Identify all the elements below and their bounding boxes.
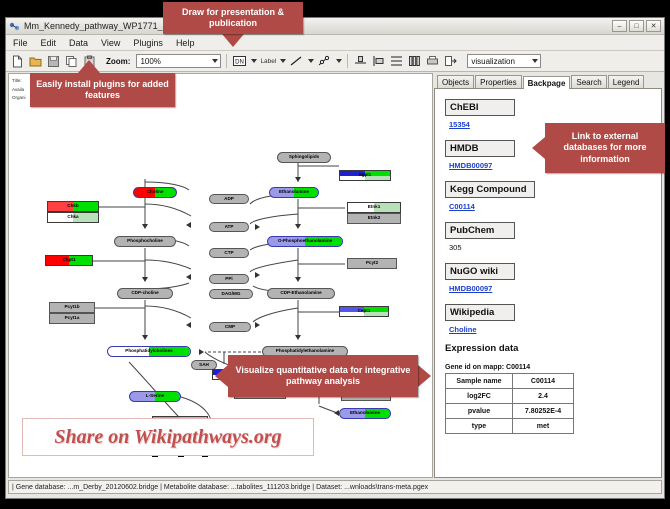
zoom-value: 100% (140, 57, 160, 66)
arrow-icon (255, 224, 260, 230)
zoom-combo[interactable]: 100% (136, 54, 221, 68)
menu-plugins[interactable]: Plugins (131, 37, 165, 49)
svg-text:DN: DN (236, 60, 245, 66)
share-banner-text: Share on Wikipathways.org (54, 426, 281, 449)
close-button[interactable]: ✕ (646, 20, 661, 32)
status-bar: | Gene database: ...m_Derby_20120602.bri… (8, 480, 662, 494)
metabolite-node-atp[interactable]: ATP (209, 222, 249, 232)
node-label: CMP (225, 325, 235, 330)
metabolite-node-dag-mg[interactable]: DAG/MG (209, 289, 253, 299)
metabolite-node-phosphocholine[interactable]: Phosphocholine (114, 236, 176, 247)
menu-data[interactable]: Data (67, 37, 90, 49)
tab-objects[interactable]: Objects (437, 75, 474, 88)
gene-node-chkb[interactable]: Chkb (47, 201, 99, 212)
metabolite-node-cdp-choline[interactable]: CDP-choline (117, 288, 173, 299)
database-link-wikipedia[interactable]: Choline (449, 325, 661, 334)
database-header-chebi: ChEBI (445, 99, 515, 116)
arrow-icon (186, 274, 191, 280)
copy-icon[interactable] (64, 54, 79, 69)
title-bar: Mm_Kennedy_pathway_WP1771_45176.gpml – □… (6, 18, 664, 35)
node-label: Pcyt2 (366, 261, 378, 266)
arrow-icon (199, 349, 204, 355)
side-panel-tabs: Objects Properties Backpage Search Legen… (434, 73, 662, 89)
line-icon[interactable] (289, 54, 304, 69)
metabolite-node-phosphatidylcholines[interactable]: Phosphatidylcholines (107, 346, 191, 357)
node-label: ADP (224, 197, 234, 202)
arrow-icon (142, 277, 148, 282)
gene-node-pcyt1b[interactable]: Pcyt1b (49, 302, 95, 313)
callout-link: Link to external databases for more info… (545, 123, 665, 173)
gene-node-etnk1[interactable]: Etnk1 (347, 202, 401, 213)
callout-arrow-icon (215, 365, 228, 387)
node-label: Pcyt1a (65, 316, 80, 321)
datanode-icon[interactable]: DN (232, 54, 247, 69)
maximize-button[interactable]: □ (629, 20, 644, 32)
node-label: L-Serine (146, 394, 164, 399)
node-label: Etnk2 (368, 216, 381, 221)
gene-node-cept1[interactable]: Cept1 (339, 306, 389, 317)
gene-node-chka[interactable]: Chka (47, 212, 99, 223)
expression-value: 7.80252E-4 (513, 404, 574, 419)
callout-plugins: Easily install plugins for added feature… (30, 73, 175, 107)
menu-help[interactable]: Help (174, 37, 197, 49)
visualization-combo[interactable]: visualization (467, 54, 541, 68)
arrow-icon (142, 335, 148, 340)
align-icon[interactable] (353, 54, 368, 69)
align-left-icon[interactable] (371, 54, 386, 69)
share-banner: Share on Wikipathways.org (22, 418, 314, 456)
metabolite-node-adp[interactable]: ADP (209, 194, 249, 204)
callout-arrow-icon (418, 365, 431, 387)
database-header-wikipedia: Wikipedia (445, 304, 515, 321)
arrow-icon (186, 322, 191, 328)
database-header-hmdb: HMDB (445, 140, 515, 157)
menu-file[interactable]: File (11, 37, 30, 49)
menu-bar: File Edit Data View Plugins Help (6, 35, 664, 51)
gene-node-etnk2[interactable]: Etnk2 (347, 213, 401, 224)
chevron-down-icon[interactable] (336, 59, 342, 63)
metabolite-node-ethanolamine[interactable]: Ethanolamine (339, 408, 391, 419)
node-label: O-Phosphoethanolamine (278, 239, 332, 244)
expression-value: 2.4 (513, 389, 574, 404)
node-label: Ethanolamine (279, 190, 309, 195)
metabolite-node-o-phosphoethanolamine[interactable]: O-Phosphoethanolamine (267, 236, 343, 247)
node-label: Cept1 (358, 309, 371, 314)
chevron-down-icon[interactable] (308, 59, 314, 63)
node-label: CDP-choline (131, 291, 158, 296)
arrow-icon (295, 335, 301, 340)
metabolite-node-cdp-ethanolamine[interactable]: CDP-Ethanolamine (267, 288, 335, 299)
node-label: Chkb (67, 204, 78, 209)
arrow-icon (142, 224, 148, 229)
tab-search[interactable]: Search (571, 75, 606, 88)
chevron-down-icon (212, 59, 218, 63)
database-header-nugo-wiki: NuGO wiki (445, 263, 515, 280)
arrow-icon (255, 272, 260, 278)
node-label: DAG/MG (222, 292, 241, 297)
chevron-down-icon[interactable] (280, 59, 286, 63)
expression-row: pvalue7.80252E-4 (446, 404, 574, 419)
callout-arrow-icon (78, 60, 100, 73)
callout-arrow-icon (222, 34, 244, 47)
arrow-icon (295, 177, 301, 182)
zoom-label: Zoom: (106, 57, 130, 66)
expression-value: met (513, 419, 574, 434)
metabolite-node-ctp[interactable]: CTP (209, 248, 249, 258)
arrow-icon (295, 224, 301, 229)
database-link-nugo-wiki[interactable]: HMDB00097 (449, 284, 661, 293)
stack-icon[interactable] (407, 54, 422, 69)
tab-legend[interactable]: Legend (608, 75, 645, 88)
database-link-kegg-compound[interactable]: C00114 (449, 202, 661, 211)
node-label: PPi (225, 277, 232, 282)
arrow-icon (186, 222, 191, 228)
arrow-icon (255, 322, 260, 328)
metabolite-node-ppi[interactable]: PPi (209, 274, 249, 284)
callout-visualize: Visualize quantitative data for integrat… (228, 355, 418, 397)
gene-node-pcyt2[interactable]: Pcyt2 (347, 258, 397, 269)
metabolite-node-ethanolamine[interactable]: Ethanolamine (269, 187, 319, 198)
metabolite-node-l-serine[interactable]: L-Serine (129, 391, 181, 402)
toolbar: Zoom: 100% DN Label vi (6, 51, 664, 72)
arrow-icon (295, 277, 301, 282)
database-header-pubchem: PubChem (445, 222, 515, 239)
visualization-value: visualization (471, 57, 515, 66)
node-label: CDP-Ethanolamine (280, 291, 321, 296)
metabolite-node-cmp[interactable]: CMP (209, 322, 251, 332)
node-label: Sgpl1 (359, 173, 372, 178)
save-icon[interactable] (46, 54, 61, 69)
anchor-icon[interactable] (317, 54, 332, 69)
node-label: Chka (67, 215, 78, 220)
expression-key: pvalue (446, 404, 513, 419)
expression-heading: Expression data (445, 343, 661, 354)
export-icon[interactable] (443, 54, 458, 69)
tab-backpage[interactable]: Backpage (523, 76, 571, 89)
toolbar-separator (347, 54, 348, 68)
database-value-pubchem: 305 (449, 243, 661, 252)
callout-draw: Draw for presentation & publication (163, 2, 303, 34)
minimize-button[interactable]: – (612, 20, 627, 32)
label-tool-label[interactable]: Label (260, 58, 276, 65)
toolbar-separator (226, 54, 227, 68)
new-file-icon[interactable] (10, 54, 25, 69)
node-label: Choline (147, 190, 164, 195)
node-label: Etnk1 (368, 205, 381, 210)
node-label: Chpt1 (62, 258, 75, 263)
tab-properties[interactable]: Properties (475, 75, 521, 88)
database-header-kegg-compound: Kegg Compound (445, 181, 535, 198)
menu-view[interactable]: View (99, 37, 122, 49)
node-label: Phosphocholine (127, 239, 163, 244)
metabolite-node-sphingolipids[interactable]: Sphingolipids (277, 152, 331, 163)
gene-node-pcyt1a[interactable]: Pcyt1a (49, 313, 95, 324)
node-label: Phosphatidylcholines (125, 349, 172, 354)
window-buttons: – □ ✕ (612, 20, 661, 32)
gene-node-sgpl1[interactable]: Sgpl1 (339, 170, 391, 181)
node-label: Phosphatidylethanolamine (276, 349, 334, 354)
callout-arrow-icon (532, 137, 545, 159)
expression-row: typemet (446, 419, 574, 434)
expression-row: log2FC2.4 (446, 389, 574, 404)
expression-key: log2FC (446, 389, 513, 404)
node-label: SAH (199, 363, 209, 368)
chevron-down-icon (532, 59, 538, 63)
expression-table: Sample nameC00114log2FC2.4pvalue7.80252E… (445, 373, 574, 434)
pathvisio-icon (9, 21, 20, 32)
expression-key: type (446, 419, 513, 434)
expression-row: Sample nameC00114 (446, 374, 574, 389)
node-label: Pcyt1b (64, 305, 79, 310)
node-label: ATP (225, 225, 234, 230)
metabolite-node-choline[interactable]: Choline (133, 187, 177, 198)
node-label: Sphingolipids (289, 155, 319, 160)
expression-value: C00114 (513, 374, 574, 389)
gene-id-line: Gene id on mapp: C00114 (445, 364, 661, 371)
menu-edit[interactable]: Edit (39, 37, 59, 49)
print-icon[interactable] (425, 54, 440, 69)
status-text: | Gene database: ...m_Derby_20120602.bri… (12, 484, 428, 491)
chevron-down-icon[interactable] (251, 59, 257, 63)
gene-node-chpt1[interactable]: Chpt1 (45, 255, 93, 266)
open-folder-icon[interactable] (28, 54, 43, 69)
distribute-icon[interactable] (389, 54, 404, 69)
expression-key: Sample name (446, 374, 513, 389)
node-label: Ethanolamine (350, 411, 380, 416)
node-label: CTP (224, 251, 233, 256)
